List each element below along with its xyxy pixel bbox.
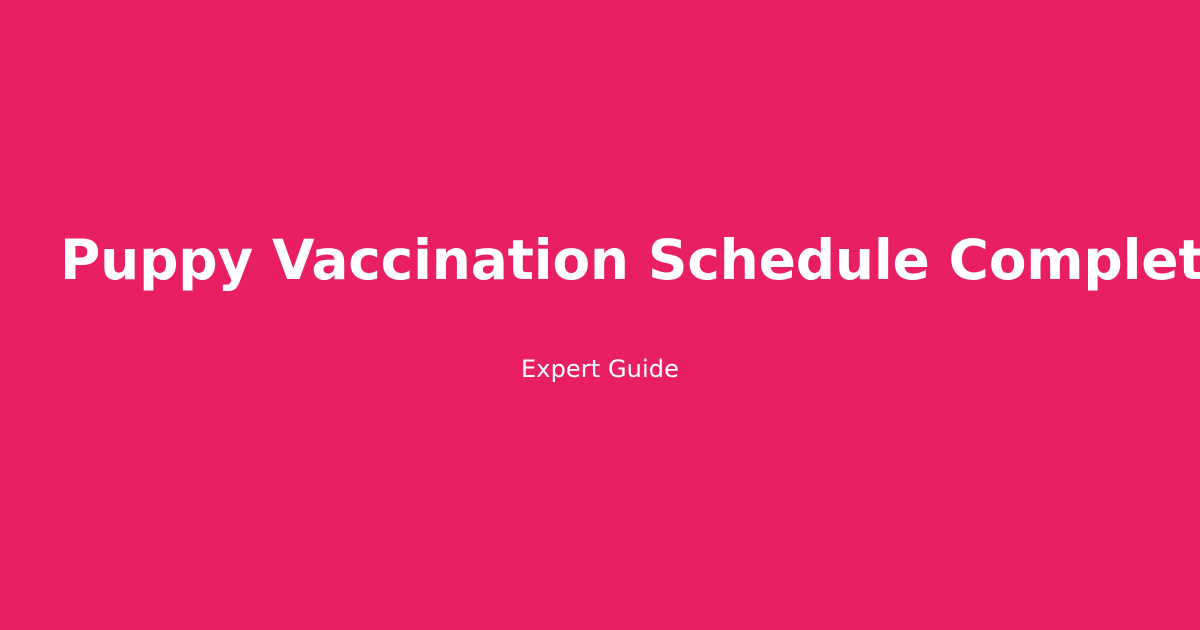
hero-banner: Puppy Vaccination Schedule Complete Guid… xyxy=(0,0,1200,630)
page-title: Puppy Vaccination Schedule Complete Guid… xyxy=(0,228,1200,293)
page-subtitle: Expert Guide xyxy=(0,355,1200,384)
hero-text-block: Puppy Vaccination Schedule Complete Guid… xyxy=(0,228,1200,384)
